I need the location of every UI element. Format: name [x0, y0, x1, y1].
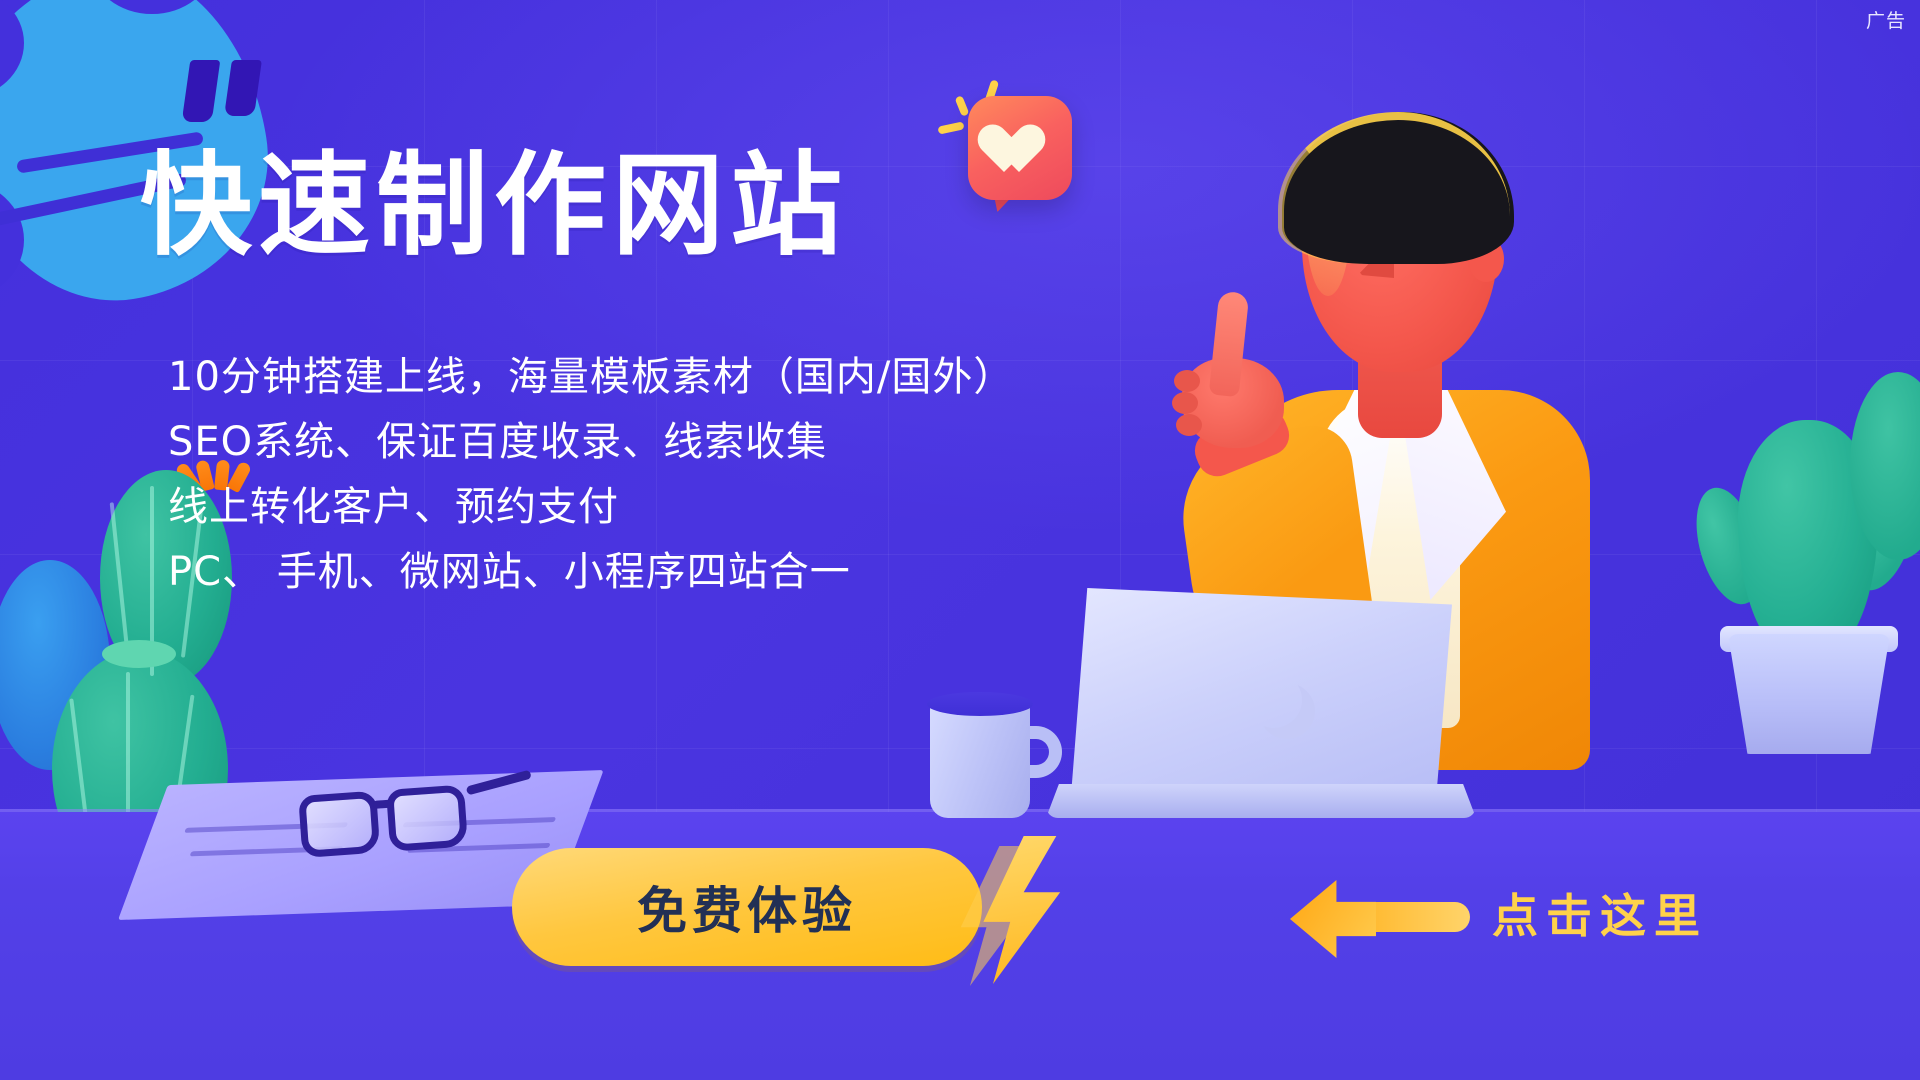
feature-line: PC、 手机、微网站、小程序四站合一	[168, 540, 1014, 605]
heart-icon	[990, 126, 1048, 178]
feature-line: 10分钟搭建上线，海量模板素材（国内/国外）	[168, 345, 1014, 410]
heart-like-badge-icon	[968, 96, 1072, 200]
moon-logo-icon	[1246, 672, 1302, 728]
pointing-hand-icon	[1158, 296, 1300, 448]
eyeglasses-icon	[297, 770, 532, 866]
coffee-mug-icon	[930, 690, 1058, 820]
lightning-bolt-icon	[968, 836, 1064, 984]
sparkle-icon	[937, 121, 964, 134]
quote-mark-icon	[186, 60, 262, 132]
laptop-icon	[1050, 588, 1470, 828]
feature-line: 线上转化客户、预约支付	[168, 475, 1014, 540]
ad-banner[interactable]: 广告	[0, 0, 1920, 1080]
feature-line: SEO系统、保证百度收录、线索收集	[168, 410, 1014, 475]
left-arrow-icon	[1290, 880, 1470, 958]
free-trial-button-label: 免费体验	[637, 871, 857, 943]
page-title: 快速制作网站	[140, 148, 848, 266]
sparkle-icon	[955, 95, 970, 117]
feature-list: 10分钟搭建上线，海量模板素材（国内/国外） SEO系统、保证百度收录、线索收集…	[168, 345, 1014, 605]
free-trial-button[interactable]: 免费体验	[512, 848, 982, 966]
ad-label: 广告	[1866, 6, 1906, 33]
click-here-hint: 点击这里	[1492, 880, 1708, 946]
